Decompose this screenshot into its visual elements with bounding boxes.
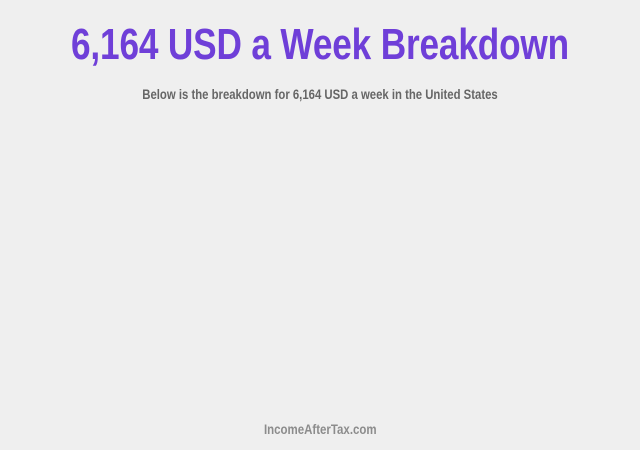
footer-brand-label: IncomeAfterTax.com (264, 421, 377, 438)
site-footer: IncomeAfterTax.com (0, 421, 640, 439)
breakdown-chart-area (0, 120, 640, 405)
breakdown-page: 6,164 USD a Week Breakdown Below is the … (0, 0, 640, 450)
chart-plot (0, 120, 640, 405)
page-subtitle: Below is the breakdown for 6,164 USD a w… (51, 86, 589, 103)
page-title: 6,164 USD a Week Breakdown (64, 20, 576, 70)
